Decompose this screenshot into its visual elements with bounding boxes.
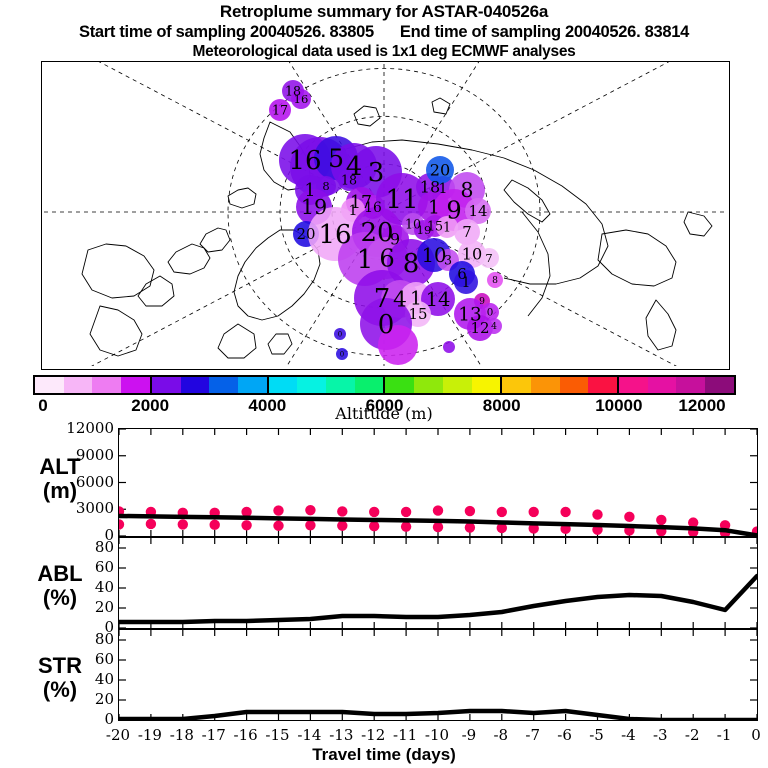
bubble-day-label: 4 (393, 288, 407, 313)
bubble-day-label: 7 (485, 251, 492, 265)
bubble-day-label: 8 (322, 179, 329, 193)
alt-data-dot (241, 520, 251, 530)
bubble-day-label: 15 (408, 305, 427, 323)
x-tick-label: -10 (425, 726, 449, 744)
str-y-tick-label: 60 (95, 650, 114, 668)
coastline-path (598, 230, 676, 286)
bubble-day-label: 1 (443, 219, 451, 234)
abl-y-tick-label: 20 (95, 598, 114, 616)
x-tick-label: -2 (685, 726, 700, 744)
alt-data-dot (433, 522, 443, 532)
abl-y-tick-label: 60 (95, 558, 114, 576)
bubble-day-label: 0 (338, 330, 342, 338)
alt-data-dot (305, 520, 315, 530)
bubble-day-label: 1 (357, 245, 374, 275)
colorbar-swatch (297, 377, 326, 393)
bubble-day-label: 7 (462, 223, 472, 241)
x-tick-label: -9 (462, 726, 477, 744)
sampling-times-line: Start time of sampling 20040526. 83805En… (0, 22, 768, 42)
coastline-path (522, 212, 550, 316)
bubble-day-label: 1 (428, 197, 440, 218)
coastline-path (228, 188, 256, 208)
retroplume-map[interactable]: 1816171654318181917161111818201914201620… (41, 61, 730, 370)
bubble-day-label: 0 (487, 307, 494, 319)
x-tick-label: -20 (106, 726, 130, 744)
bubble-day-label: 20 (430, 161, 450, 180)
coastline-path (168, 244, 210, 274)
coastline-path (90, 306, 142, 356)
bubble-day-label: 16 (318, 220, 351, 250)
colorbar-swatch (355, 377, 384, 393)
bubble-day-label: 14 (468, 202, 487, 220)
travel-time-tick-labels: -20-19-18-17-16-15-14-13-12-11-10-9-8-7-… (0, 726, 768, 746)
bubble-day-label: 10 (462, 245, 482, 264)
alt-data-dot (146, 519, 156, 529)
alt-plot-panel[interactable] (118, 428, 758, 537)
colorbar-swatch (472, 377, 501, 393)
x-tick-label: -1 (717, 726, 732, 744)
bubble-day-label: 11 (385, 185, 418, 215)
alt-data-dot (433, 505, 443, 515)
abl-y-tick-label: 40 (95, 578, 114, 596)
alt-data-dot (401, 507, 411, 517)
bubble-day-label: 6 (379, 244, 394, 272)
bubble-day-label: 19 (301, 195, 327, 219)
bubble-day-label: 10 (422, 244, 447, 267)
map-canvas: 1816171654318181917161111818201914201620… (42, 62, 726, 366)
coastline-path (432, 98, 450, 114)
bubble-day-label: 16 (288, 146, 321, 176)
coastline-path (646, 300, 676, 350)
coastline-path (138, 276, 174, 306)
bubble-day-label: 3 (444, 252, 452, 267)
alt-data-dot (337, 521, 347, 531)
alt-data-dot (401, 521, 411, 531)
bubble-day-label: 15 (427, 218, 443, 233)
colorbar-swatch (35, 377, 64, 393)
bubble-day-label: 20 (296, 225, 315, 243)
alt-data-dot (497, 507, 507, 517)
coastline-path (504, 180, 550, 222)
x-tick-label: -19 (138, 726, 162, 744)
bubble-day-label: 1 (462, 275, 471, 291)
coastline-path (82, 244, 154, 298)
x-tick-label: -18 (170, 726, 194, 744)
colorbar-swatch (238, 377, 267, 393)
bubble-day-label: 0 (378, 310, 395, 340)
colorbar-swatch (560, 377, 589, 393)
alt-data-dot (465, 506, 475, 516)
header-block: Retroplume summary for ASTAR-040526a Sta… (0, 0, 768, 62)
alt-plot-canvas (119, 429, 757, 536)
alt-data-dot (529, 507, 539, 517)
alt-y-tick-label: 6000 (76, 473, 114, 491)
bubble-day-label: 1 (439, 181, 448, 197)
x-tick-label: 0 (751, 726, 761, 744)
alt-data-dot (369, 507, 379, 517)
str-y-tick-label: 40 (95, 670, 114, 688)
alt-data-dot (560, 507, 570, 517)
str-y-tick-label: 80 (95, 630, 114, 648)
colorbar-swatch (92, 377, 121, 393)
bubble-day-label: 8 (492, 275, 498, 286)
colorbar-swatch (676, 377, 705, 393)
colorbar-swatch (385, 377, 414, 393)
alt-data-dot (592, 509, 602, 519)
end-time-label: End time of sampling 20040526. 83814 (400, 23, 689, 41)
colorbar-swatch (269, 377, 298, 393)
abl-line (119, 576, 757, 622)
colorbar-swatch (531, 377, 560, 393)
bubble-day-label: 5 (328, 144, 344, 173)
x-tick-label: -8 (493, 726, 508, 744)
bubble-day-label: 18 (420, 178, 440, 197)
page-title: Retroplume summary for ASTAR-040526a (0, 2, 768, 22)
alt-y-tick-label: 3000 (76, 499, 114, 517)
bubble-day-label: 1 (349, 203, 358, 219)
x-tick-label: -14 (297, 726, 321, 744)
str-plot-panel[interactable] (118, 629, 758, 721)
bubble-day-label: 3 (368, 158, 385, 188)
start-time-label: Start time of sampling 20040526. 83805 (79, 23, 374, 41)
str-y-tick-label: 20 (95, 690, 114, 708)
x-tick-label: -16 (234, 726, 258, 744)
bubble-day-label: 4 (491, 321, 497, 332)
coastline-path (684, 212, 712, 236)
x-tick-label: -13 (329, 726, 353, 744)
colorbar-swatch (588, 377, 617, 393)
alt-data-dot (656, 515, 666, 525)
alt-y-tick-label: 12000 (66, 419, 114, 437)
bubble-day-label: 12 (470, 319, 489, 337)
alt-data-dot (305, 505, 315, 515)
colorbar-swatch (443, 377, 472, 393)
alt-data-dot (273, 521, 283, 531)
x-tick-label: -3 (653, 726, 668, 744)
colorbar-swatch (64, 377, 93, 393)
x-tick-label: -4 (621, 726, 636, 744)
abl-plot-canvas (119, 538, 757, 628)
coastline-path (200, 228, 230, 252)
colorbar-swatch (326, 377, 355, 393)
x-tick-label: -5 (589, 726, 604, 744)
alt-data-dot (273, 505, 283, 515)
alt-y-tick-label: 9000 (76, 446, 114, 464)
bubble-day-label: 17 (272, 102, 288, 117)
colorbar-swatch (648, 377, 677, 393)
altitude-colorbar[interactable] (33, 375, 736, 395)
bubble-day-label: 16 (364, 200, 382, 216)
x-tick-label: -17 (202, 726, 226, 744)
retroplume-bubble (443, 341, 455, 353)
colorbar-swatch (181, 377, 210, 393)
colorbar-swatch (209, 377, 238, 393)
x-tick-label: -6 (557, 726, 572, 744)
coastline-path (268, 334, 292, 354)
bubble-day-label: 14 (426, 288, 451, 311)
x-tick-marks (119, 538, 757, 628)
x-tick-marks (119, 630, 757, 720)
bubble-day-label: 16 (294, 92, 309, 106)
abl-plot-panel[interactable] (118, 537, 758, 629)
alt-data-dot (210, 520, 220, 530)
x-tick-label: -15 (265, 726, 289, 744)
str-plot-canvas (119, 630, 757, 720)
coastline-path (218, 324, 256, 358)
x-tick-label: -11 (393, 726, 417, 744)
colorbar-swatch (619, 377, 648, 393)
retroplume-bubbles: 1816171654318181917161111818201914201620… (269, 80, 503, 365)
x-tick-label: -7 (525, 726, 540, 744)
alt-data-dot (337, 506, 347, 516)
x-axis-label: Travel time (days) (0, 745, 768, 765)
bubble-day-label: 8 (403, 249, 420, 279)
alt-data-dot (369, 521, 379, 531)
colorbar-swatch (414, 377, 443, 393)
colorbar-swatch (121, 377, 150, 393)
bubble-day-label: 0 (340, 350, 344, 358)
coastline-path (354, 106, 380, 126)
colorbar-swatch (152, 377, 181, 393)
x-tick-label: -12 (361, 726, 385, 744)
bubble-day-label: 8 (460, 178, 473, 202)
bubble-day-label: 18 (341, 172, 357, 187)
alt-data-dot (178, 519, 188, 529)
alt-data-dot (119, 519, 124, 529)
met-data-label: Meteorological data used is 1x1 deg ECMW… (0, 42, 768, 62)
y-tick-marks (119, 640, 757, 720)
colorbar-swatch (705, 377, 734, 393)
alt-data-dot (624, 512, 634, 522)
abl-y-tick-label: 80 (95, 538, 114, 556)
colorbar-swatch (502, 377, 531, 393)
colorbar-axis-label: Altitude (m) (0, 404, 768, 423)
